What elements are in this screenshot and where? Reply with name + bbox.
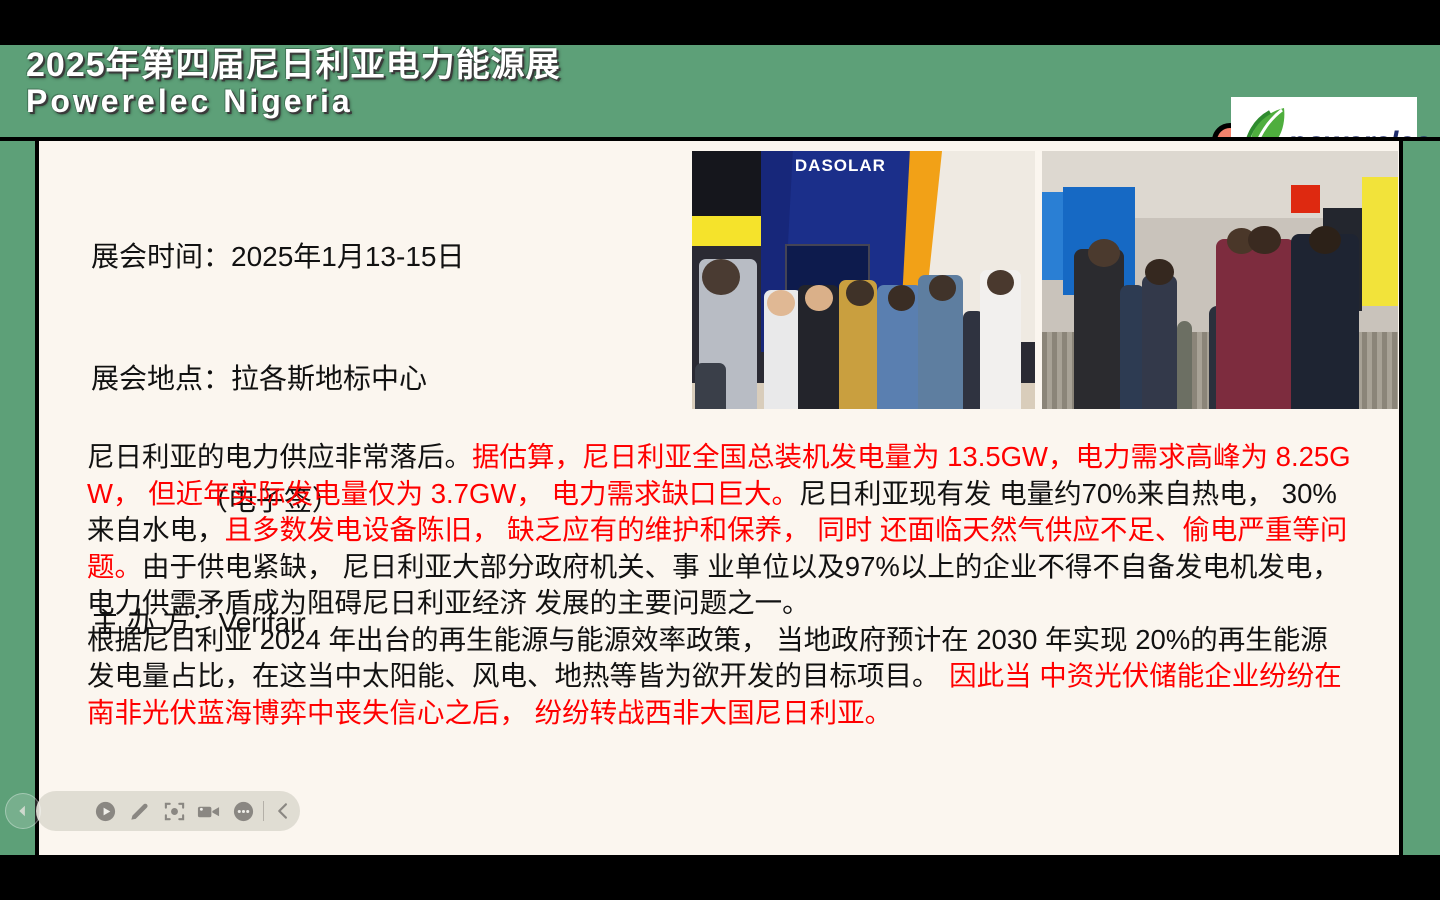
play-button[interactable] [88,791,123,831]
toolbar-separator [263,801,264,821]
collapse-button[interactable] [265,791,300,831]
frame-divider-right [1399,141,1403,855]
frame-strip-left [0,45,35,855]
booth-brand-label: DASOLAR [795,156,886,176]
record-button[interactable] [192,791,227,831]
pencil-icon [128,800,151,823]
photo-dasolar-booth: DASOLAR [692,151,1035,409]
page-title-en: Powerelec Nigeria [26,84,561,119]
p1-seg5: 由于供电紧缺， 尼日利亚大部分政府机关、事 业单位以及97%以上的企业不得不自备… [87,551,1340,619]
page-title-cn: 2025年第四届尼日利亚电力能源展 [26,47,561,84]
body-paragraph-2: 根据尼日利亚 2024 年出台的再生能源与能源效率政策， 当地政府预计在 203… [87,622,1353,732]
annotate-button[interactable] [123,791,158,831]
chevron-left-circle-icon [14,802,32,820]
frame-strip-right [1403,45,1440,855]
event-date: 展会时间：2025年1月13-15日 [91,237,464,278]
presentation-viewer: 2025年第四届尼日利亚电力能源展 Powerelec Nigeria powe… [0,0,1440,900]
body-paragraph-1: 尼日利亚的电力供应非常落后。据估算，尼日利亚全国总装机发电量为 13.5GW，电… [87,439,1353,622]
slide-canvas: 展会时间：2025年1月13-15日 展会地点：拉各斯地标中心 （电子签） 主 … [39,141,1399,855]
video-camera-icon [196,799,221,824]
more-button[interactable] [226,791,261,831]
focus-button[interactable] [157,791,192,831]
photo-exhibition-aisle [1042,151,1398,409]
slide-body-text: 尼日利亚的电力供应非常落后。据估算，尼日利亚全国总装机发电量为 13.5GW，电… [87,439,1353,732]
slide-header: 2025年第四届尼日利亚电力能源展 Powerelec Nigeria powe… [0,45,1440,137]
ellipsis-circle-icon [232,800,255,823]
logo-wordmark: powerelec [1288,126,1430,138]
playback-toolbar[interactable] [36,791,300,831]
powerelec-logo: powerelec Nigeria [1231,97,1417,137]
back-button[interactable] [5,793,41,829]
play-circle-icon [94,800,117,823]
focus-frame-icon [163,800,186,823]
event-venue: 展会地点：拉各斯地标中心 [91,359,464,400]
header-title-group: 2025年第四届尼日利亚电力能源展 Powerelec Nigeria [26,47,561,118]
p1-seg1: 尼日利亚的电力供应非常落后。 [87,441,472,472]
china-flag-icon [1291,185,1319,213]
chevron-left-icon [273,801,293,821]
